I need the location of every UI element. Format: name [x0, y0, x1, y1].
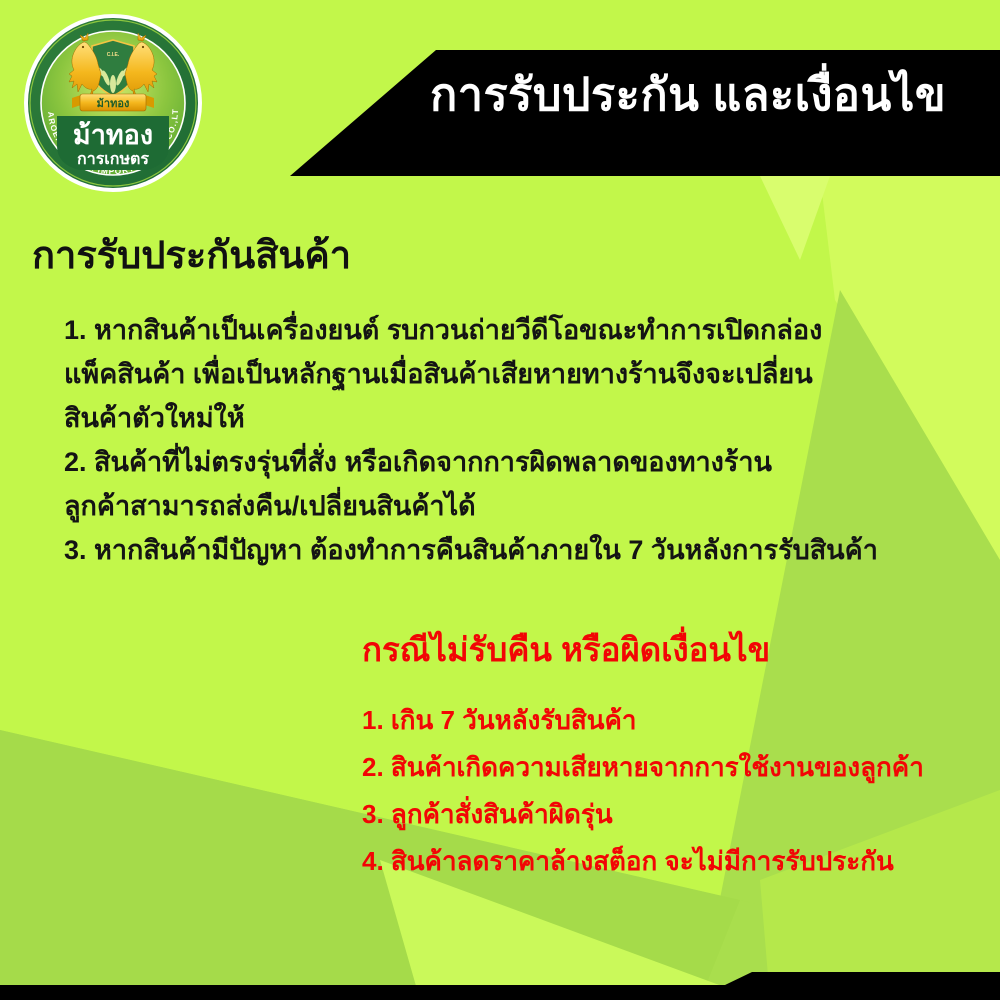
logo-ribbon-text: ม้าทอง — [97, 97, 130, 110]
warranty-line: 3. หากสินค้ามีปัญหา ต้องทำการคืนสินค้าภา… — [64, 528, 964, 572]
reject-line: 2. สินค้าเกิดความเสียหายจากการใช้งานของล… — [362, 744, 982, 791]
reject-list: 1. เกิน 7 วันหลังรับสินค้า 2. สินค้าเกิด… — [362, 697, 982, 885]
reject-line: 4. สินค้าลดราคาล้างสต็อก จะไม่มีการรับปร… — [362, 838, 982, 885]
warranty-line: ลูกค้าสามารถส่งคืน/เปลี่ยนสินค้าได้ — [64, 484, 964, 528]
company-logo: • CHAROENPATTANA IMPORT EXPORT CO.,LTD. … — [22, 12, 204, 194]
reject-line: 1. เกิน 7 วันหลังรับสินค้า — [362, 697, 982, 744]
reject-line: 3. ลูกค้าสั่งสินค้าผิดรุ่น — [362, 791, 982, 838]
warranty-poster: การรับประกัน และเงื่อนไข — [0, 0, 1000, 1000]
logo-brand-thai: ม้าทอง — [73, 120, 153, 150]
warranty-line: แพ็คสินค้า เพื่อเป็นหลักฐานเมื่อสินค้าเส… — [64, 352, 964, 396]
logo-svg: • CHAROENPATTANA IMPORT EXPORT CO.,LTD. … — [22, 12, 204, 194]
warranty-list: 1. หากสินค้าเป็นเครื่องยนต์ รบกวนถ่ายวีด… — [64, 308, 964, 572]
warranty-section-title: การรับประกันสินค้า — [32, 236, 351, 278]
shield-label: C.I.E. — [107, 52, 120, 58]
warranty-line: 2. สินค้าที่ไม่ตรงรุ่นที่สั่ง หรือเกิดจา… — [64, 440, 964, 484]
reject-section-title: กรณีไม่รับคืน หรือผิดเงื่อนไข — [362, 632, 770, 668]
logo-ribbon: ม้าทอง — [72, 94, 154, 111]
logo-brand-thai-sub: การเกษตร — [77, 151, 149, 168]
footer-banner-shape — [0, 960, 1000, 1000]
footer-banner — [0, 960, 1000, 1000]
warranty-line: 1. หากสินค้าเป็นเครื่องยนต์ รบกวนถ่ายวีด… — [64, 308, 964, 352]
page-title: การรับประกัน และเงื่อนไข — [430, 72, 990, 117]
warranty-line: สินค้าตัวใหม่ให้ — [64, 396, 964, 440]
footer-banner-polygon — [0, 972, 1000, 1000]
